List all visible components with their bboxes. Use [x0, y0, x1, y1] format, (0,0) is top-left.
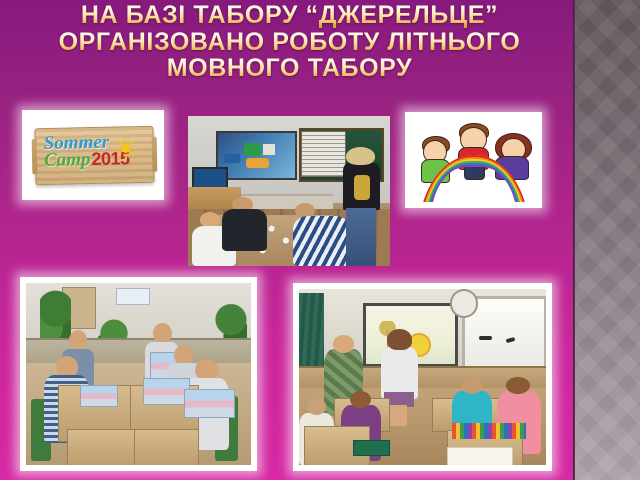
slide-title-line-3: МОВНОГО ТАБОРУ	[22, 55, 557, 82]
classroom-projector-photo	[293, 283, 552, 471]
pupil-drawing	[184, 389, 236, 418]
slide-side-panel	[575, 0, 640, 480]
projector-screen	[216, 131, 297, 180]
slide-title-line-1: НА БАЗІ ТАБОРУ “ДЖЕРЕЛЬЦЕ”	[22, 2, 557, 29]
slide-title-line-2: ОРГАНІЗОВАНО РОБОТУ ЛІТНЬОГО	[22, 29, 557, 56]
open-notebook	[447, 447, 513, 465]
book	[353, 440, 390, 456]
sommer-camp-logo-image: Sommer Camp 2015	[22, 110, 164, 200]
pupil	[222, 197, 266, 251]
desk	[67, 429, 137, 465]
colour-pencils	[452, 423, 526, 439]
wall-clock	[450, 289, 479, 318]
wooden-sign-graphic: Sommer Camp 2015	[34, 126, 154, 185]
rainbow-kids-clipart	[405, 112, 542, 208]
sun-icon	[114, 137, 136, 159]
argyle-pattern	[575, 0, 640, 480]
wall-poster	[116, 288, 150, 305]
logo-text-camp: Camp	[43, 150, 90, 170]
slide-title: НА БАЗІ ТАБОРУ “ДЖЕРЕЛЬЦЕ” ОРГАНІЗОВАНО …	[22, 2, 557, 82]
classroom-word-cards-photo	[188, 116, 390, 266]
presentation-slide: НА БАЗІ ТАБОРУ “ДЖЕРЕЛЬЦЕ” ОРГАНІЗОВАНО …	[0, 0, 640, 480]
teacher	[342, 149, 382, 266]
desk	[134, 429, 199, 465]
pupil-drawing	[80, 385, 118, 407]
kids-holding-drawings-photo	[20, 277, 257, 471]
word-cards-on-board	[301, 131, 345, 177]
